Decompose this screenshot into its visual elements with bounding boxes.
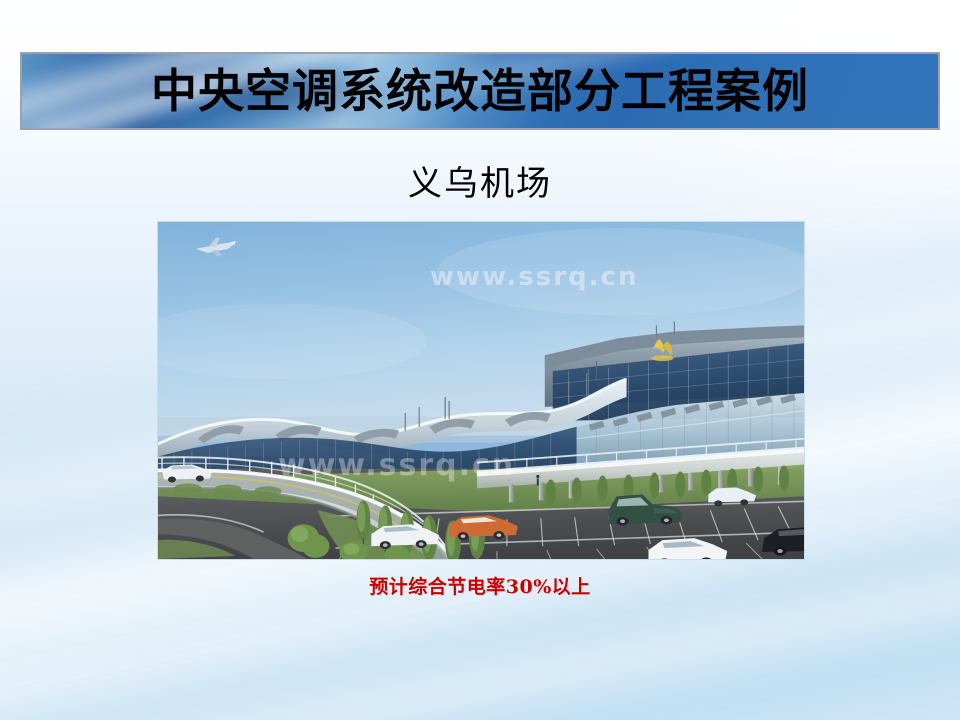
energy-saving-caption: 预计综合节电率30%以上 xyxy=(0,572,960,599)
slide-title-banner: 中央空调系统改造部分工程案例 xyxy=(20,52,940,130)
slide-subtitle: 义乌机场 xyxy=(0,166,960,203)
slide-title: 中央空调系统改造部分工程案例 xyxy=(151,68,809,114)
airport-photo-artwork xyxy=(158,222,804,559)
presentation-slide: 中央空调系统改造部分工程案例 义乌机场 xyxy=(0,0,960,720)
airport-photo: www.ssrq.cn www.ssrq.cn xyxy=(157,221,805,560)
